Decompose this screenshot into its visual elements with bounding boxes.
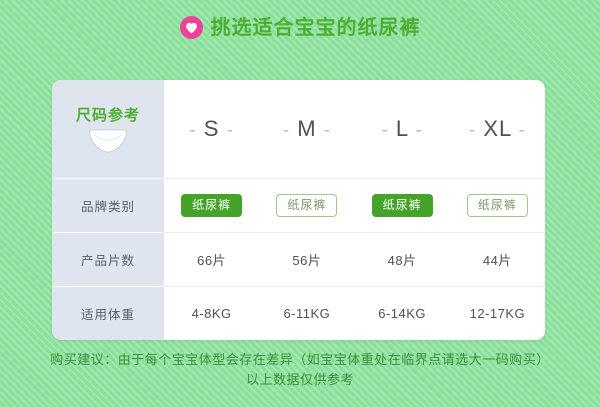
heart-icon	[180, 16, 203, 39]
size-data-area: - S - - M - - L -	[164, 80, 545, 340]
brand-type-cell-m: 纸尿裤	[259, 194, 354, 217]
size-label-m: M	[297, 116, 316, 141]
piece-count-cell-l: 48片	[355, 250, 450, 269]
brand-badge-xl[interactable]: 纸尿裤	[467, 194, 528, 217]
weight-range-value-s: 4-8KG	[192, 306, 232, 321]
size-dash-right-l: -	[415, 120, 422, 141]
weight-range-cell-m: 6-11KG	[259, 306, 354, 321]
table-row: 66片 56片 48片 44片	[164, 232, 545, 286]
brand-type-cell-xl: 纸尿裤	[450, 194, 545, 217]
size-dash-left-s: -	[189, 120, 196, 141]
size-dash-left-l: -	[381, 120, 388, 141]
weight-range-value-xl: 12-17KG	[470, 306, 526, 321]
footer-line-2: 以上数据仅供参考	[0, 370, 600, 390]
piece-count-value-s: 66片	[197, 250, 226, 269]
footer-note: 购买建议：由于每个宝宝体型会存在差异（如宝宝体重处在临界点请选大一码购买） 以上…	[0, 350, 600, 390]
brand-type-cell-s: 纸尿裤	[164, 194, 259, 217]
size-dash-left-xl: -	[469, 120, 476, 141]
row-label-weight-range: 适用体重	[52, 286, 164, 340]
weight-range-cell-s: 4-8KG	[164, 306, 259, 321]
size-reference-card: 尺码参考 品牌类别 产品片数 适用体重 - S -	[52, 80, 545, 340]
page-title-bar: 挑选适合宝宝的纸尿裤	[0, 16, 600, 39]
size-label-l: L	[396, 116, 408, 141]
size-reference-heading-cell: 尺码参考	[52, 80, 164, 178]
diaper-icon	[86, 128, 130, 154]
weight-range-value-m: 6-11KG	[283, 306, 330, 321]
brand-badge-l[interactable]: 纸尿裤	[372, 194, 433, 217]
size-label-xl: XL	[483, 116, 511, 141]
size-dash-left-m: -	[283, 120, 290, 141]
table-row: 4-8KG 6-11KG 6-14KG 12-17KG	[164, 286, 545, 340]
row-label-piece-count: 产品片数	[52, 232, 164, 286]
weight-range-value-l: 6-14KG	[378, 306, 426, 321]
size-label-s: S	[204, 116, 220, 141]
size-header-l: - L -	[355, 116, 450, 142]
brand-badge-m[interactable]: 纸尿裤	[276, 194, 337, 217]
brand-type-cell-l: 纸尿裤	[355, 194, 450, 217]
page-title: 挑选适合宝宝的纸尿裤	[211, 18, 421, 38]
piece-count-value-m: 56片	[292, 250, 321, 269]
brand-badge-s[interactable]: 纸尿裤	[181, 194, 242, 217]
size-header-m: - M -	[259, 116, 354, 142]
table-row: 纸尿裤 纸尿裤 纸尿裤 纸尿裤	[164, 178, 545, 232]
piece-count-value-xl: 44片	[483, 250, 512, 269]
size-header-s: - S -	[164, 116, 259, 142]
size-dash-right-s: -	[227, 120, 234, 141]
size-dash-right-m: -	[324, 120, 331, 141]
piece-count-cell-xl: 44片	[450, 250, 545, 269]
row-label-brand-type: 品牌类别	[52, 178, 164, 232]
weight-range-cell-l: 6-14KG	[355, 306, 450, 321]
weight-range-cell-xl: 12-17KG	[450, 306, 545, 321]
piece-count-cell-s: 66片	[164, 250, 259, 269]
size-header-row: - S - - M - - L -	[164, 80, 545, 178]
size-header-xl: - XL -	[450, 116, 545, 142]
row-label-column: 尺码参考 品牌类别 产品片数 适用体重	[52, 80, 164, 340]
size-dash-right-xl: -	[519, 120, 526, 141]
size-reference-heading: 尺码参考	[76, 104, 140, 125]
piece-count-cell-m: 56片	[259, 250, 354, 269]
piece-count-value-l: 48片	[388, 250, 417, 269]
footer-line-1: 购买建议：由于每个宝宝体型会存在差异（如宝宝体重处在临界点请选大一码购买）	[0, 350, 600, 370]
